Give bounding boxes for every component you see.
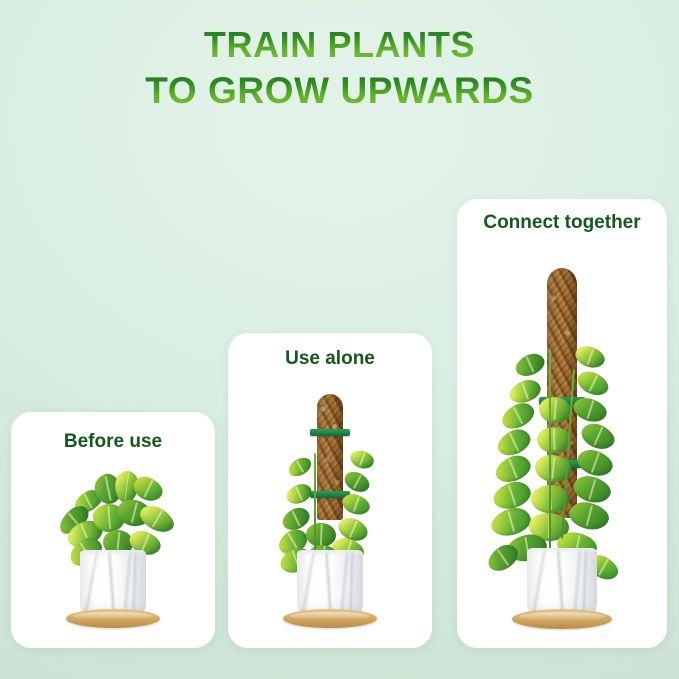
infographic-canvas: TRAIN PLANTS TO GROW UPWARDS Before use [0,0,679,679]
leaf [574,367,612,400]
pot-rim [527,548,597,554]
leaf [348,447,377,472]
leaf [283,480,314,507]
marble-planter-pot [297,550,363,618]
card-use-alone[interactable]: Use alone [228,333,432,648]
vine-stem [549,349,551,549]
plant-illustration-connect-together [457,199,667,648]
leaf [574,446,616,481]
headline-line-1: TRAIN PLANTS [0,22,679,68]
moss-pole [317,394,343,520]
card-connect-together[interactable]: Connect together [457,199,667,648]
bamboo-saucer [512,609,612,629]
headline-line-2: TO GROW UPWARDS [0,68,679,114]
leaf [286,454,315,480]
plant-illustration-before-use [11,412,215,648]
leaf [578,419,618,454]
vine-stem [314,453,316,553]
marble-planter-pot [80,550,146,618]
leaf [572,342,607,371]
plant-illustration-use-alone [228,333,432,648]
bamboo-saucer [283,609,377,628]
velcro-strap [310,429,350,436]
leaf [512,350,548,380]
bamboo-saucer [66,609,160,628]
page-title: TRAIN PLANTS TO GROW UPWARDS [0,22,679,114]
pot-rim [297,550,363,556]
card-before-use[interactable]: Before use [11,412,215,648]
leaf [306,522,337,547]
marble-planter-pot [527,548,597,618]
pot-rim [80,550,146,556]
